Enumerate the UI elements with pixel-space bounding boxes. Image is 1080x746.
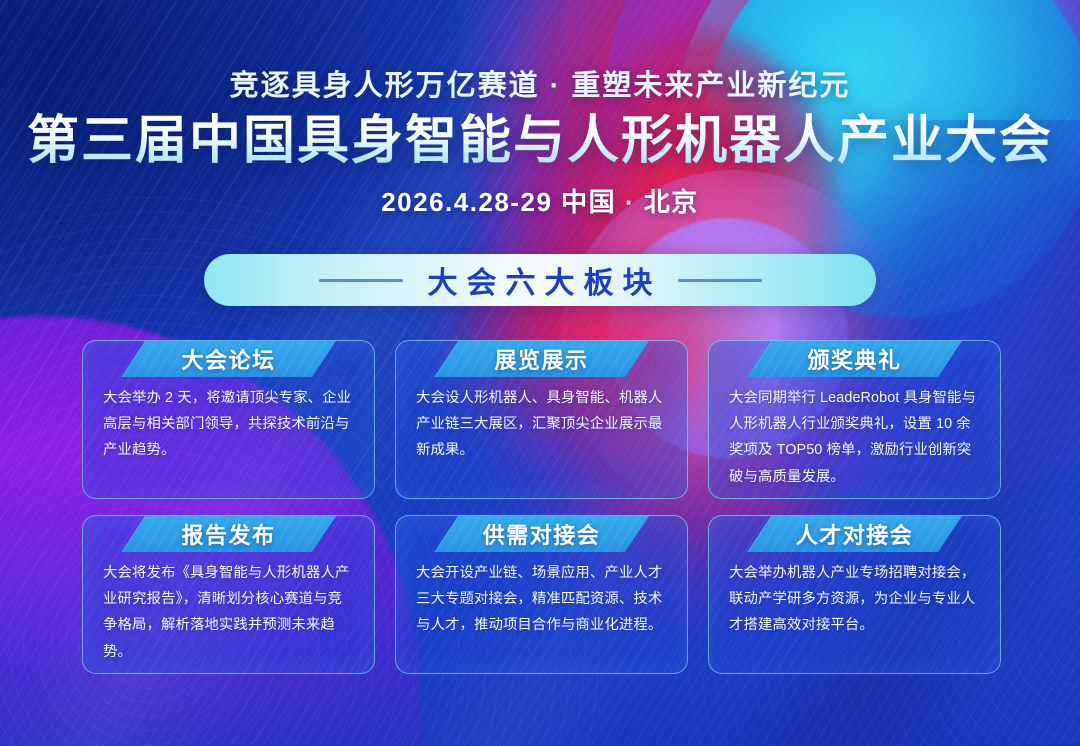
header-kicker: 竞逐具身人形万亿赛道 · 重塑未来产业新纪元 [0,62,1080,104]
card-title: 颁奖典礼 [709,341,1000,377]
header-datetime: 2026.4.28-29 中国 · 北京 [0,182,1080,219]
section-pill: 大会六大板块 [204,254,876,306]
card-body: 大会设人形机器人、具身智能、机器人产业链三大展区，汇聚顶尖企业展示最新成果。 [416,385,669,488]
section-card-supply-demand[interactable]: 供需对接会 大会开设产业链、场景应用、产业人才三大专题对接会，精准匹配资源、技术… [395,515,688,674]
pill-rule-right-icon [678,279,762,282]
section-card-awards[interactable]: 颁奖典礼 大会同期举行 LeadeRobot 具身智能与人形机器人行业颁奖典礼，… [708,340,1001,499]
section-pill-wrapper: 大会六大板块 [0,254,1080,306]
section-card-exhibition[interactable]: 展览展示 大会设人形机器人、具身智能、机器人产业链三大展区，汇聚顶尖企业展示最新… [395,340,688,499]
card-body: 大会举办 2 天，将邀请顶尖专家、企业高层与相关部门领导，共探技术前沿与产业趋势… [103,385,356,488]
conference-poster: 竞逐具身人形万亿赛道 · 重塑未来产业新纪元 第三届中国具身智能与人形机器人产业… [0,0,1080,746]
card-title: 大会论坛 [83,341,374,377]
card-body: 大会将发布《具身智能与人形机器人产业研究报告》，清晰划分核心赛道与竞争格局，解析… [103,560,356,663]
section-card-forum[interactable]: 大会论坛 大会举办 2 天，将邀请顶尖专家、企业高层与相关部门领导，共探技术前沿… [82,340,375,499]
card-title: 展览展示 [396,341,687,377]
card-body: 大会同期举行 LeadeRobot 具身智能与人形机器人行业颁奖典礼，设置 10… [729,385,982,488]
section-title: 大会六大板块 [419,258,662,302]
section-card-grid: 大会论坛 大会举办 2 天，将邀请顶尖专家、企业高层与相关部门领导，共探技术前沿… [82,340,1000,674]
card-body: 大会开设产业链、场景应用、产业人才三大专题对接会，精准匹配资源、技术与人才，推动… [416,560,669,663]
card-title: 人才对接会 [709,516,1000,552]
card-title: 供需对接会 [396,516,687,552]
section-card-report[interactable]: 报告发布 大会将发布《具身智能与人形机器人产业研究报告》，清晰划分核心赛道与竞争… [82,515,375,674]
poster-header: 竞逐具身人形万亿赛道 · 重塑未来产业新纪元 第三届中国具身智能与人形机器人产业… [0,62,1080,219]
pill-rule-left-icon [319,279,403,282]
card-body: 大会举办机器人产业专场招聘对接会，联动产学研多方资源，为企业与专业人才搭建高效对… [729,560,982,663]
page-title: 第三届中国具身智能与人形机器人产业大会 [0,112,1080,170]
card-title: 报告发布 [83,516,374,552]
section-card-talent[interactable]: 人才对接会 大会举办机器人产业专场招聘对接会，联动产学研多方资源，为企业与专业人… [708,515,1001,674]
